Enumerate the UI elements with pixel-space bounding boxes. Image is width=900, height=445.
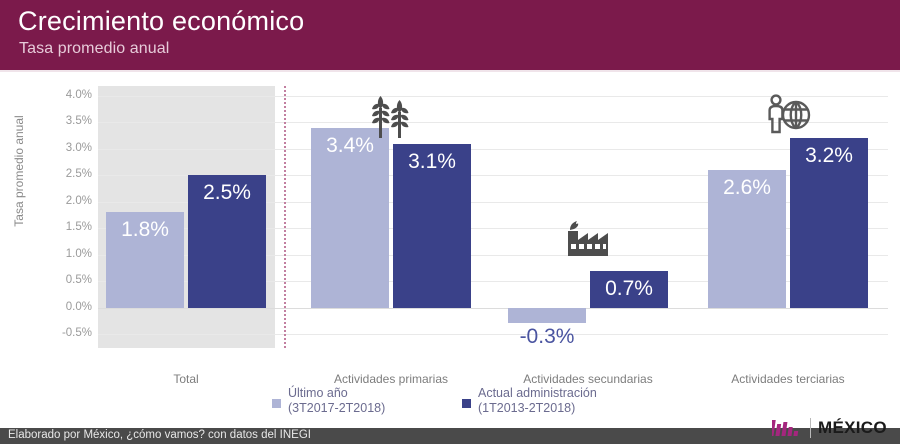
y-axis-tick-label: 1.5% [46, 221, 92, 233]
bar-value-label: 2.5% [188, 181, 266, 205]
legend-label: Actual administración(1T2013-2T2018) [478, 386, 597, 416]
logo-bars-icon [772, 418, 806, 445]
bar-value-label: 1.8% [106, 218, 184, 242]
gridline [98, 308, 888, 309]
page-header: Crecimiento económico Tasa promedio anua… [0, 0, 900, 70]
legend-swatch [462, 399, 471, 408]
logo-wordmark: MÉXICO [818, 418, 887, 438]
chart-legend: Último año(3T2017-2T2018)Actual administ… [0, 386, 900, 426]
factory-icon [562, 219, 614, 264]
y-axis-tick-label: 3.0% [46, 142, 92, 154]
y-axis-tick-label: 3.5% [46, 115, 92, 127]
bar-value-label: 3.1% [393, 150, 471, 174]
y-axis-tick-labels: 4.0%3.5%3.0%2.5%2.0%1.5%1.0%0.5%0.0%-0.5… [40, 96, 92, 334]
bar [508, 308, 586, 324]
plot-area: 1.8%2.5%3.4%3.1%-0.3%0.7%2.6%3.2% TotalA… [98, 96, 888, 334]
x-axis-category-label: Actividades terciarias [688, 372, 888, 386]
page-title: Crecimiento económico [18, 6, 304, 37]
bar-value-label: 2.6% [708, 176, 786, 200]
chart-area: Tasa promedio anual 4.0%3.5%3.0%2.5%2.0%… [0, 72, 900, 372]
y-axis-tick-label: 4.0% [46, 89, 92, 101]
y-axis-tick-label: 0.0% [46, 301, 92, 313]
y-axis-title: Tasa promedio anual [12, 76, 26, 266]
y-axis-tick-label: 1.0% [46, 248, 92, 260]
wheat-icon [365, 92, 417, 143]
gridline [98, 334, 888, 335]
legend-label: Último año(3T2017-2T2018) [288, 386, 385, 416]
bar-value-label: 3.2% [790, 144, 868, 168]
y-axis-tick-label: 2.5% [46, 168, 92, 180]
y-axis-tick-label: 2.0% [46, 195, 92, 207]
y-axis-tick-label: 0.5% [46, 274, 92, 286]
y-axis-tick-label: -0.5% [46, 327, 92, 339]
gridline [98, 149, 888, 150]
brand-logo: MÉXICO [772, 416, 892, 444]
bar-value-label: -0.3% [500, 325, 594, 349]
x-axis-category-label: Total [86, 372, 286, 386]
x-axis-category-label: Actividades secundarias [488, 372, 688, 386]
page-subtitle: Tasa promedio anual [19, 40, 169, 58]
footer-source-text: Elaborado por México, ¿cómo vamos? con d… [8, 429, 311, 441]
page-footer: Elaborado por México, ¿cómo vamos? con d… [0, 428, 900, 444]
bar-value-label: 0.7% [590, 277, 668, 301]
person-globe-icon [762, 92, 814, 143]
logo-separator [810, 418, 811, 438]
category-divider [284, 86, 286, 348]
x-axis-category-label: Actividades primarias [291, 372, 491, 386]
legend-swatch [272, 399, 281, 408]
